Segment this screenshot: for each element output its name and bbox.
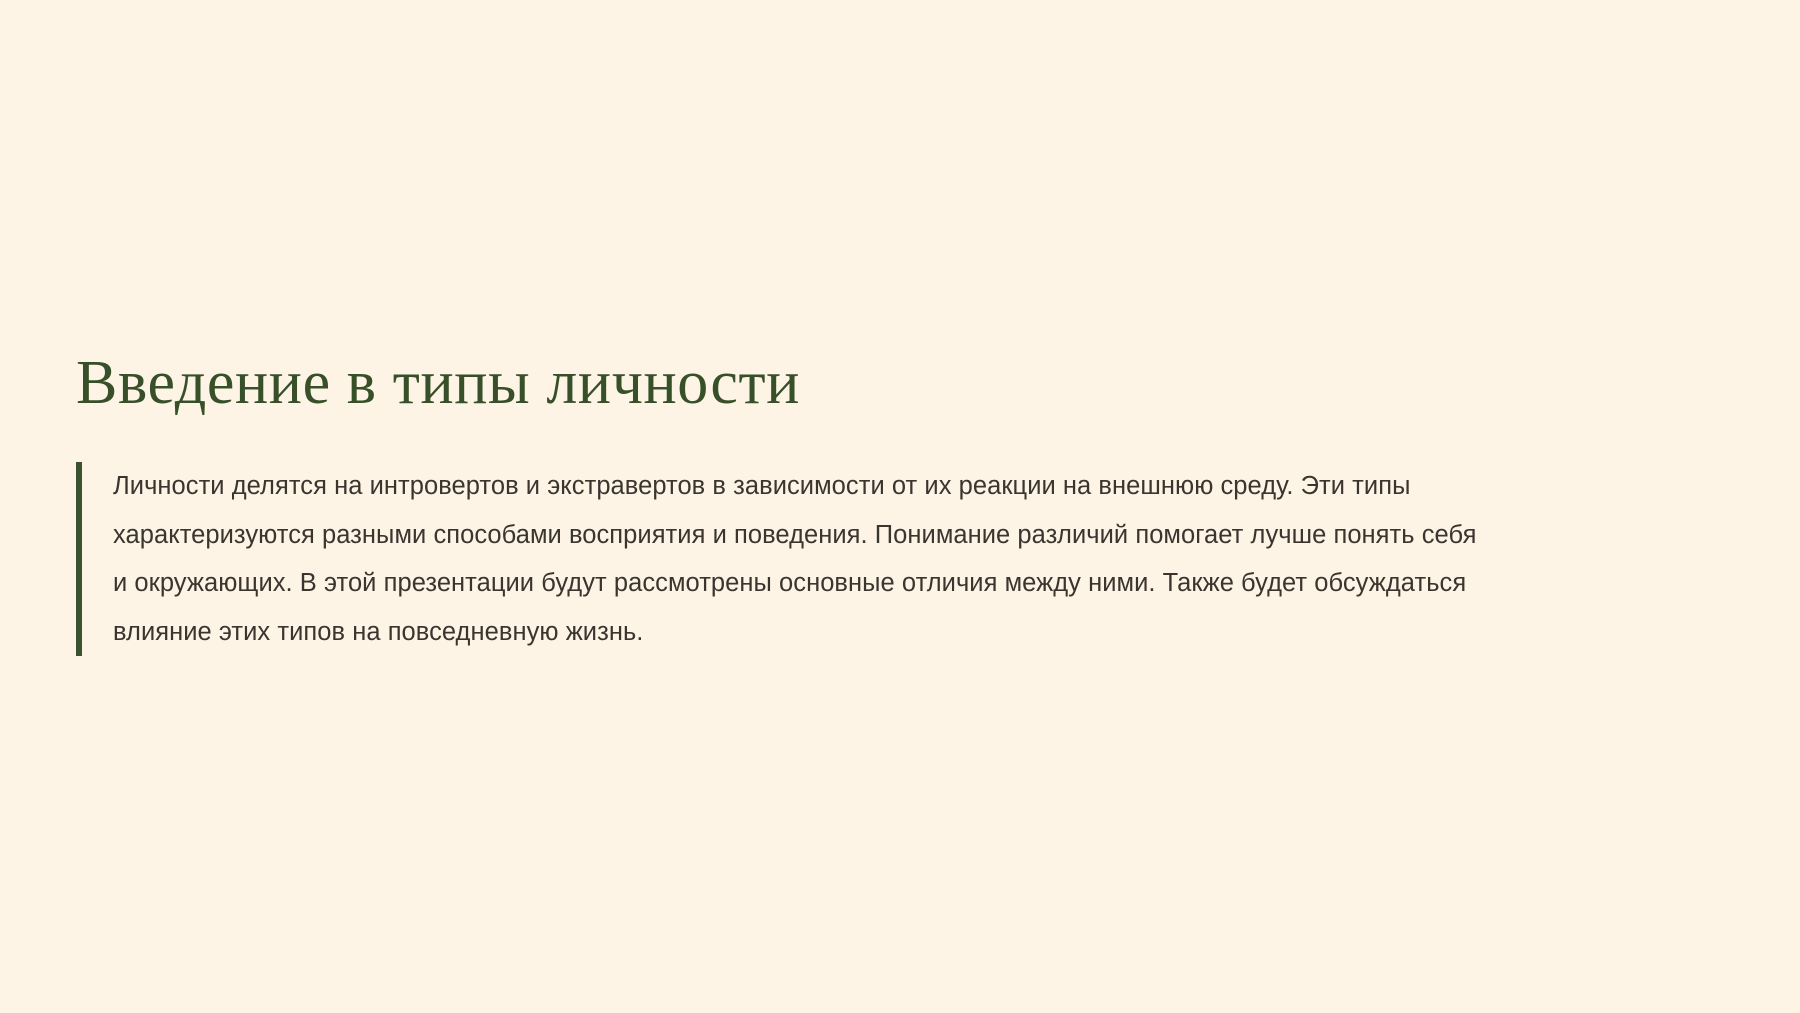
body-text-container: Личности делятся на интровертов и экстра… [82, 462, 1496, 656]
body-paragraph: Личности делятся на интровертов и экстра… [113, 462, 1496, 656]
body-callout-block: Личности делятся на интровертов и экстра… [76, 462, 1496, 656]
slide-canvas: Введение в типы личности Личности делятс… [0, 0, 1800, 1013]
page-title: Введение в типы личности [76, 347, 800, 419]
